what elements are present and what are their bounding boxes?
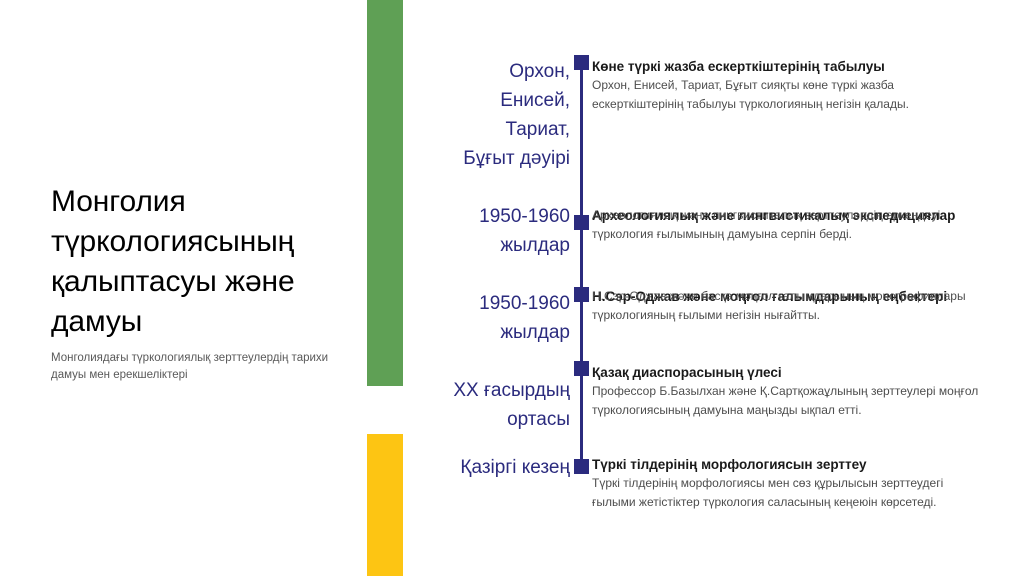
timeline-period-label: Орхон, Енисей, Тариат, Бұғыт дәуірі	[450, 57, 570, 173]
timeline-marker	[574, 55, 589, 70]
timeline-entry: Көне түркі жазба ескерткіштерінің табылу…	[592, 57, 984, 113]
timeline-entry: Н.Сэр-Оджав және моңғол ғалымдарының еңб…	[592, 287, 984, 324]
green-accent-bar	[367, 0, 403, 386]
yellow-accent-bar	[367, 434, 403, 576]
timeline-entry: Археологиялық және лингвистикалық экспед…	[592, 206, 984, 243]
timeline-marker	[574, 459, 589, 474]
timeline-marker	[574, 215, 589, 230]
timeline-entry-body: Орхон, Енисей, Тариат, Бұғыт сияқты көне…	[592, 76, 984, 113]
timeline-period-label: 1950-1960 жылдар	[450, 289, 570, 347]
timeline-entry-body: Түркі тілдерінің морфологиясы мен сөз құ…	[592, 474, 984, 511]
timeline-axis-line	[580, 62, 583, 472]
timeline-entry: Қазақ диаспорасының үлесі Профессор Б.Ба…	[592, 363, 984, 419]
timeline-period-label: Қазіргі кезең	[450, 453, 570, 482]
timeline-marker	[574, 287, 589, 302]
timeline: Орхон, Енисей, Тариат, Бұғыт дәуірі 1950…	[440, 0, 1024, 576]
page-title: Монголия түркологиясының қалыптасуы және…	[51, 182, 351, 342]
timeline-entry: Түркі тілдерінің морфологиясын зерттеу Т…	[592, 455, 984, 511]
page-subtitle: Монголиядағы түркологиялық зерттеулердің…	[51, 350, 351, 384]
timeline-marker	[574, 361, 589, 376]
timeline-entry-body: Профессор Б.Базылхан және Қ.Сартқожаұлын…	[592, 382, 984, 419]
timeline-period-label: 1950-1960 жылдар	[450, 202, 570, 260]
title-block: Монголия түркологиясының қалыптасуы және…	[51, 182, 351, 384]
timeline-period-label: XX ғасырдың ортасы	[450, 376, 570, 434]
timeline-entry-heading: Түркі тілдерінің морфологиясын зерттеу	[592, 455, 984, 474]
timeline-entry-heading: Қазақ диаспорасының үлесі	[592, 363, 984, 382]
timeline-entry-heading: Көне түркі жазба ескерткіштерінің табылу…	[592, 57, 984, 76]
